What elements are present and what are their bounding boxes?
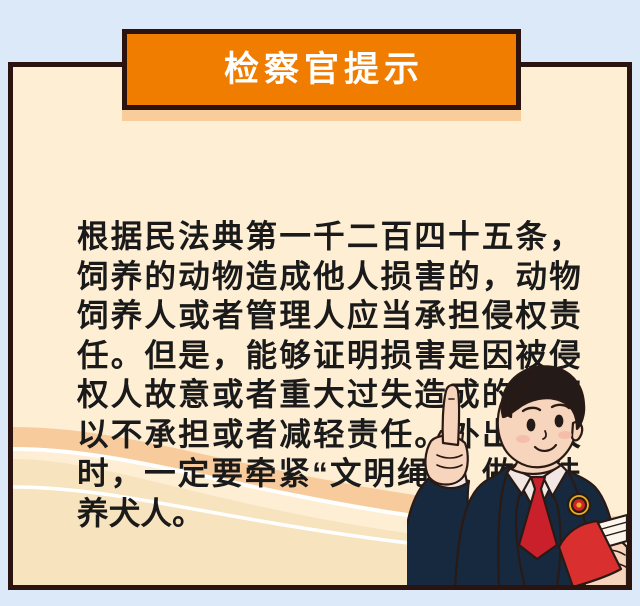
prosecutor-figure xyxy=(407,355,627,585)
banner-header: 检察官提示 xyxy=(122,29,521,110)
card-inner: 根据民法典第一千二百四十五条，饲养的动物造成他人损害的，动物饲养人或者管理人应当… xyxy=(13,67,627,585)
poster-root: 根据民法典第一千二百四十五条，饲养的动物造成他人损害的，动物饲养人或者管理人应当… xyxy=(0,0,640,606)
prosecutor-illustration xyxy=(407,355,627,585)
banner-title: 检察官提示 xyxy=(219,52,424,87)
tip-card: 根据民法典第一千二百四十五条，饲养的动物造成他人损害的，动物饲养人或者管理人应当… xyxy=(8,62,632,590)
banner-shadow xyxy=(122,110,521,121)
